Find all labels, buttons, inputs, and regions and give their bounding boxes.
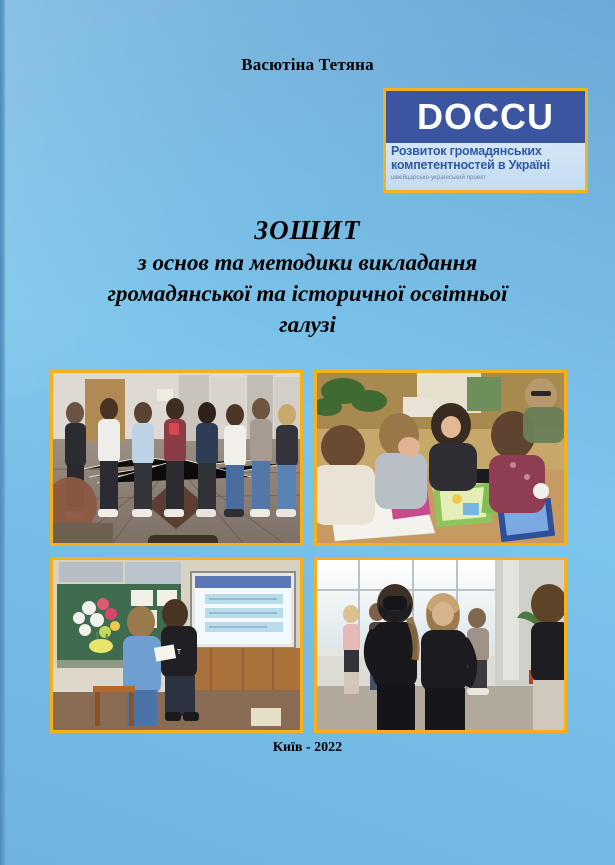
book-cover: Васютіна Тетяна DOCCU Розвиток громадянс… — [0, 0, 615, 865]
title-line-1: з основ та методики викладання — [40, 247, 575, 278]
photo-circle-activity — [50, 370, 303, 546]
photo-group-worktable — [314, 370, 567, 546]
cover-title-block: ЗОШИТ з основ та методики викладання гро… — [40, 213, 575, 340]
title-line-3: галузі — [40, 309, 575, 340]
photo-hall-masks-image — [317, 560, 564, 730]
page-edge-strip — [0, 0, 6, 865]
photo-hall-masks — [314, 557, 567, 733]
author-name: Васютіна Тетяна — [0, 55, 615, 75]
doccu-project-subtitle: швейцарсько-український проект — [391, 174, 581, 182]
svg-text:T: T — [177, 649, 182, 656]
photo-circle-activity-image — [53, 373, 300, 543]
publication-place-year: Київ - 2022 — [0, 740, 615, 756]
photo-classroom-presentation: T — [50, 557, 303, 733]
doccu-logo-band: DOCCU — [386, 91, 585, 143]
doccu-logo-tagline-area: Розвиток громадянських компетентностей в… — [386, 143, 585, 190]
doccu-tagline-line2: компетентностей в Україні — [391, 159, 581, 173]
doccu-wordmark: DOCCU — [417, 99, 554, 135]
doccu-logo: DOCCU Розвиток громадянських компетентно… — [383, 88, 588, 193]
photo-classroom-presentation-image: T — [53, 560, 300, 730]
title-main: ЗОШИТ — [40, 213, 575, 247]
photo-collage: T — [50, 370, 567, 736]
doccu-tagline-line1: Розвиток громадянських — [391, 145, 581, 159]
title-line-2: громадянської та історичної освітньої — [40, 278, 575, 309]
photo-group-worktable-image — [317, 373, 564, 543]
